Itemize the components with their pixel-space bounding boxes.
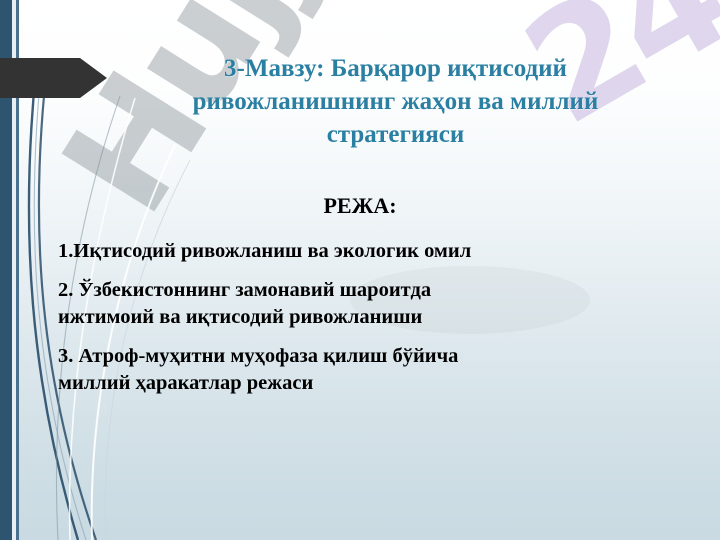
agenda-item-3: 3. Атроф-муҳитни муҳофаза қилиш бўйича м… [58,343,683,397]
left-accent-gap [12,0,16,540]
slide-title: 3-Мавзу: Барқарор иқтисодий ривожланишни… [108,52,683,151]
left-accent-bar [0,0,12,540]
agenda-item-2-line-2: ижтимоий ва иқтисодий ривожланиши [58,304,683,331]
agenda-item-1: 1.Иқтисодий ривожланиш ва экологик омил [58,238,683,265]
agenda-item-3-line-1: 3. Атроф-муҳитни муҳофаза қилиш бўйича [58,343,683,370]
agenda-item-1-line-1: 1.Иқтисодий ривожланиш ва экологик омил [58,238,683,265]
agenda-list: 1.Иқтисодий ривожланиш ва экологик омил … [58,238,683,409]
slide-title-line-2: ривожланишнинг жаҳон ва миллий [108,85,683,118]
agenda-heading: РЕЖА: [60,193,660,219]
slide-title-line-1: 3-Мавзу: Барқарор иқтисодий [108,52,683,85]
agenda-item-2: 2. Ўзбекистоннинг замонавий шароитда ижт… [58,277,683,331]
presentation-slide: 24 Hujjat 3-Мавзу: Барқарор иқтисодий ри… [0,0,720,540]
arrow-banner-shape [0,58,107,98]
agenda-item-3-line-2: миллий ҳаракатлар режаси [58,370,683,397]
left-accent-thin-line [16,0,19,540]
slide-title-line-3: стратегияси [108,118,683,151]
agenda-item-2-line-1: 2. Ўзбекистоннинг замонавий шароитда [58,277,683,304]
